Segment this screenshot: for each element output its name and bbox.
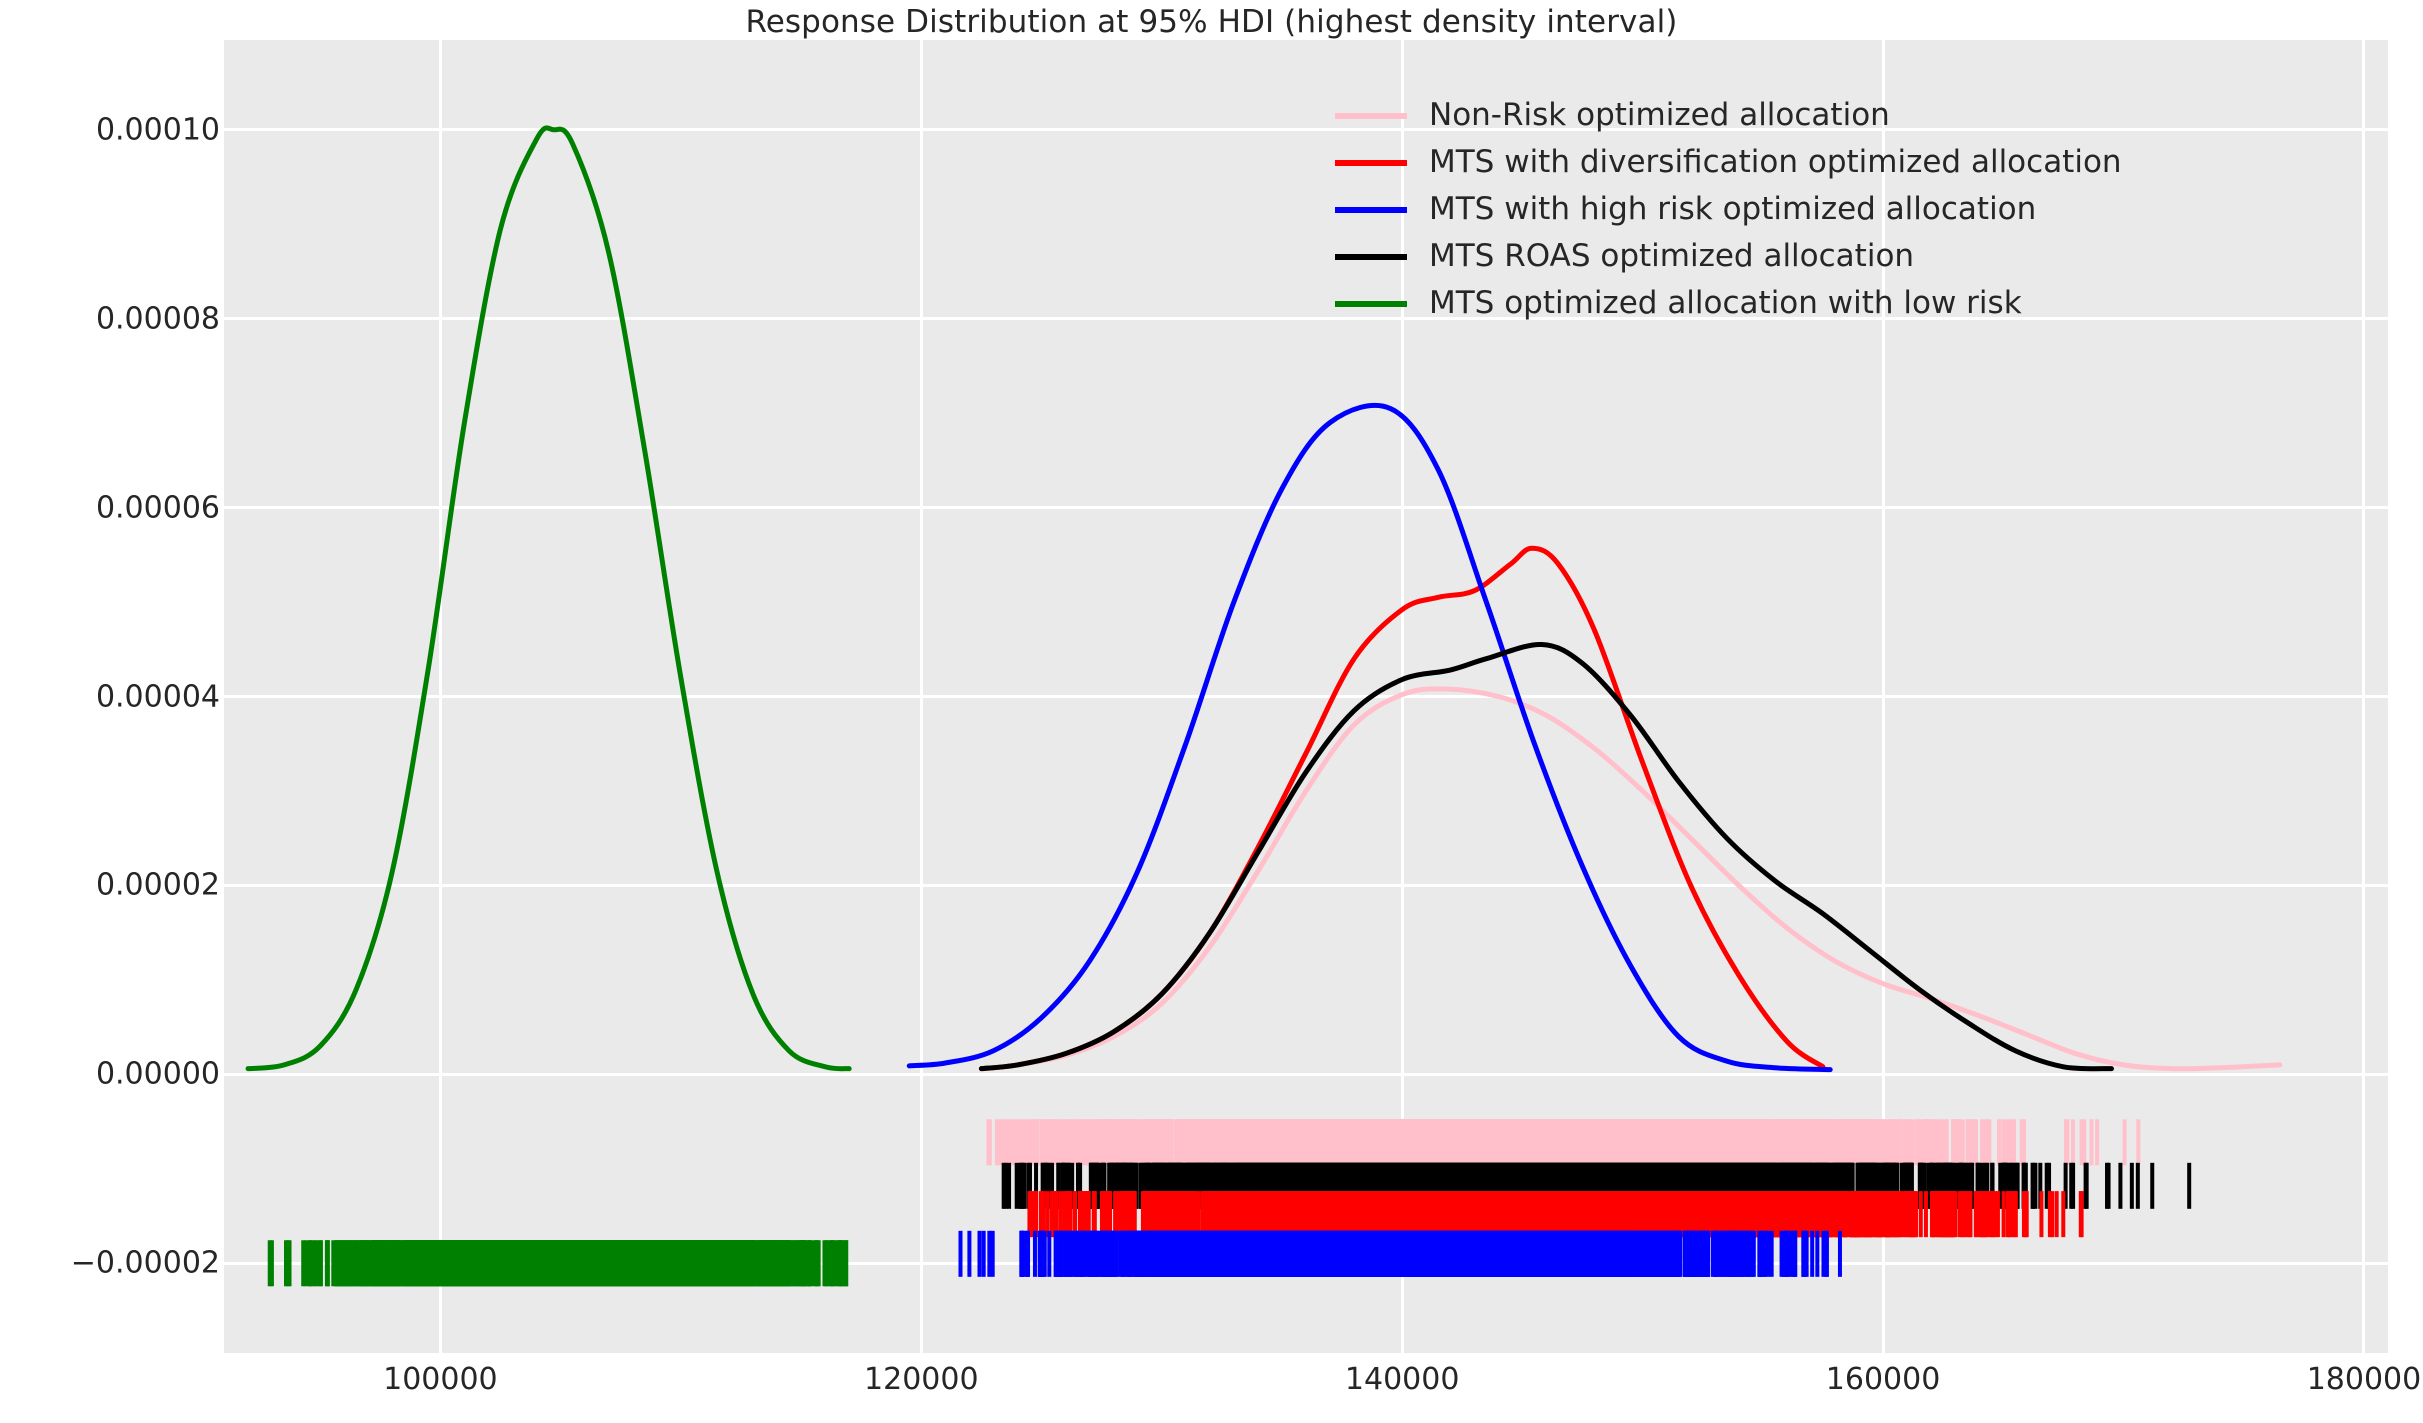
legend[interactable]: Non-Risk optimized allocationMTS with di… xyxy=(1335,92,2122,327)
y-tick-label: 0.00008 xyxy=(96,301,220,336)
legend-item-label: Non-Risk optimized allocation xyxy=(1429,100,1890,131)
legend-item[interactable]: MTS with high risk optimized allocation xyxy=(1335,186,2122,233)
figure: Response Distribution at 95% HDI (highes… xyxy=(0,0,2423,1423)
x-tick-label: 160000 xyxy=(1826,1362,1941,1397)
rug-plot-group xyxy=(268,1240,849,1286)
y-tick-label: 0.00004 xyxy=(96,679,220,714)
legend-item[interactable]: MTS ROAS optimized allocation xyxy=(1335,233,2122,280)
rug-plot-group xyxy=(1027,1191,2083,1237)
legend-item-label: MTS with diversification optimized alloc… xyxy=(1429,147,2122,178)
legend-item-label: MTS with high risk optimized allocation xyxy=(1429,194,2036,225)
x-tick-label: 140000 xyxy=(1345,1362,1460,1397)
legend-color-swatch xyxy=(1335,301,1407,307)
legend-item-label: MTS ROAS optimized allocation xyxy=(1429,241,1914,272)
x-tick-label: 120000 xyxy=(864,1362,979,1397)
legend-color-swatch xyxy=(1335,160,1407,166)
legend-item[interactable]: MTS with diversification optimized alloc… xyxy=(1335,139,2122,186)
legend-item[interactable]: Non-Risk optimized allocation xyxy=(1335,92,2122,139)
legend-color-swatch xyxy=(1335,254,1407,260)
y-tick-label: 0.00010 xyxy=(96,112,220,147)
y-tick-label: 0.00002 xyxy=(96,868,220,903)
y-tick-label: 0.00000 xyxy=(96,1057,220,1092)
y-tick-label: −0.00002 xyxy=(71,1246,220,1281)
legend-item-label: MTS optimized allocation with low risk xyxy=(1429,288,2022,319)
rug-plot-group xyxy=(986,1119,2140,1165)
rug-plot-group xyxy=(959,1231,1842,1277)
page-title: Response Distribution at 95% HDI (highes… xyxy=(0,4,2423,40)
legend-color-swatch xyxy=(1335,207,1407,213)
x-tick-label: 100000 xyxy=(383,1362,498,1397)
y-tick-label: 0.00006 xyxy=(96,490,220,525)
x-tick-label: 180000 xyxy=(2307,1362,2422,1397)
legend-item[interactable]: MTS optimized allocation with low risk xyxy=(1335,280,2122,327)
legend-color-swatch xyxy=(1335,113,1407,119)
